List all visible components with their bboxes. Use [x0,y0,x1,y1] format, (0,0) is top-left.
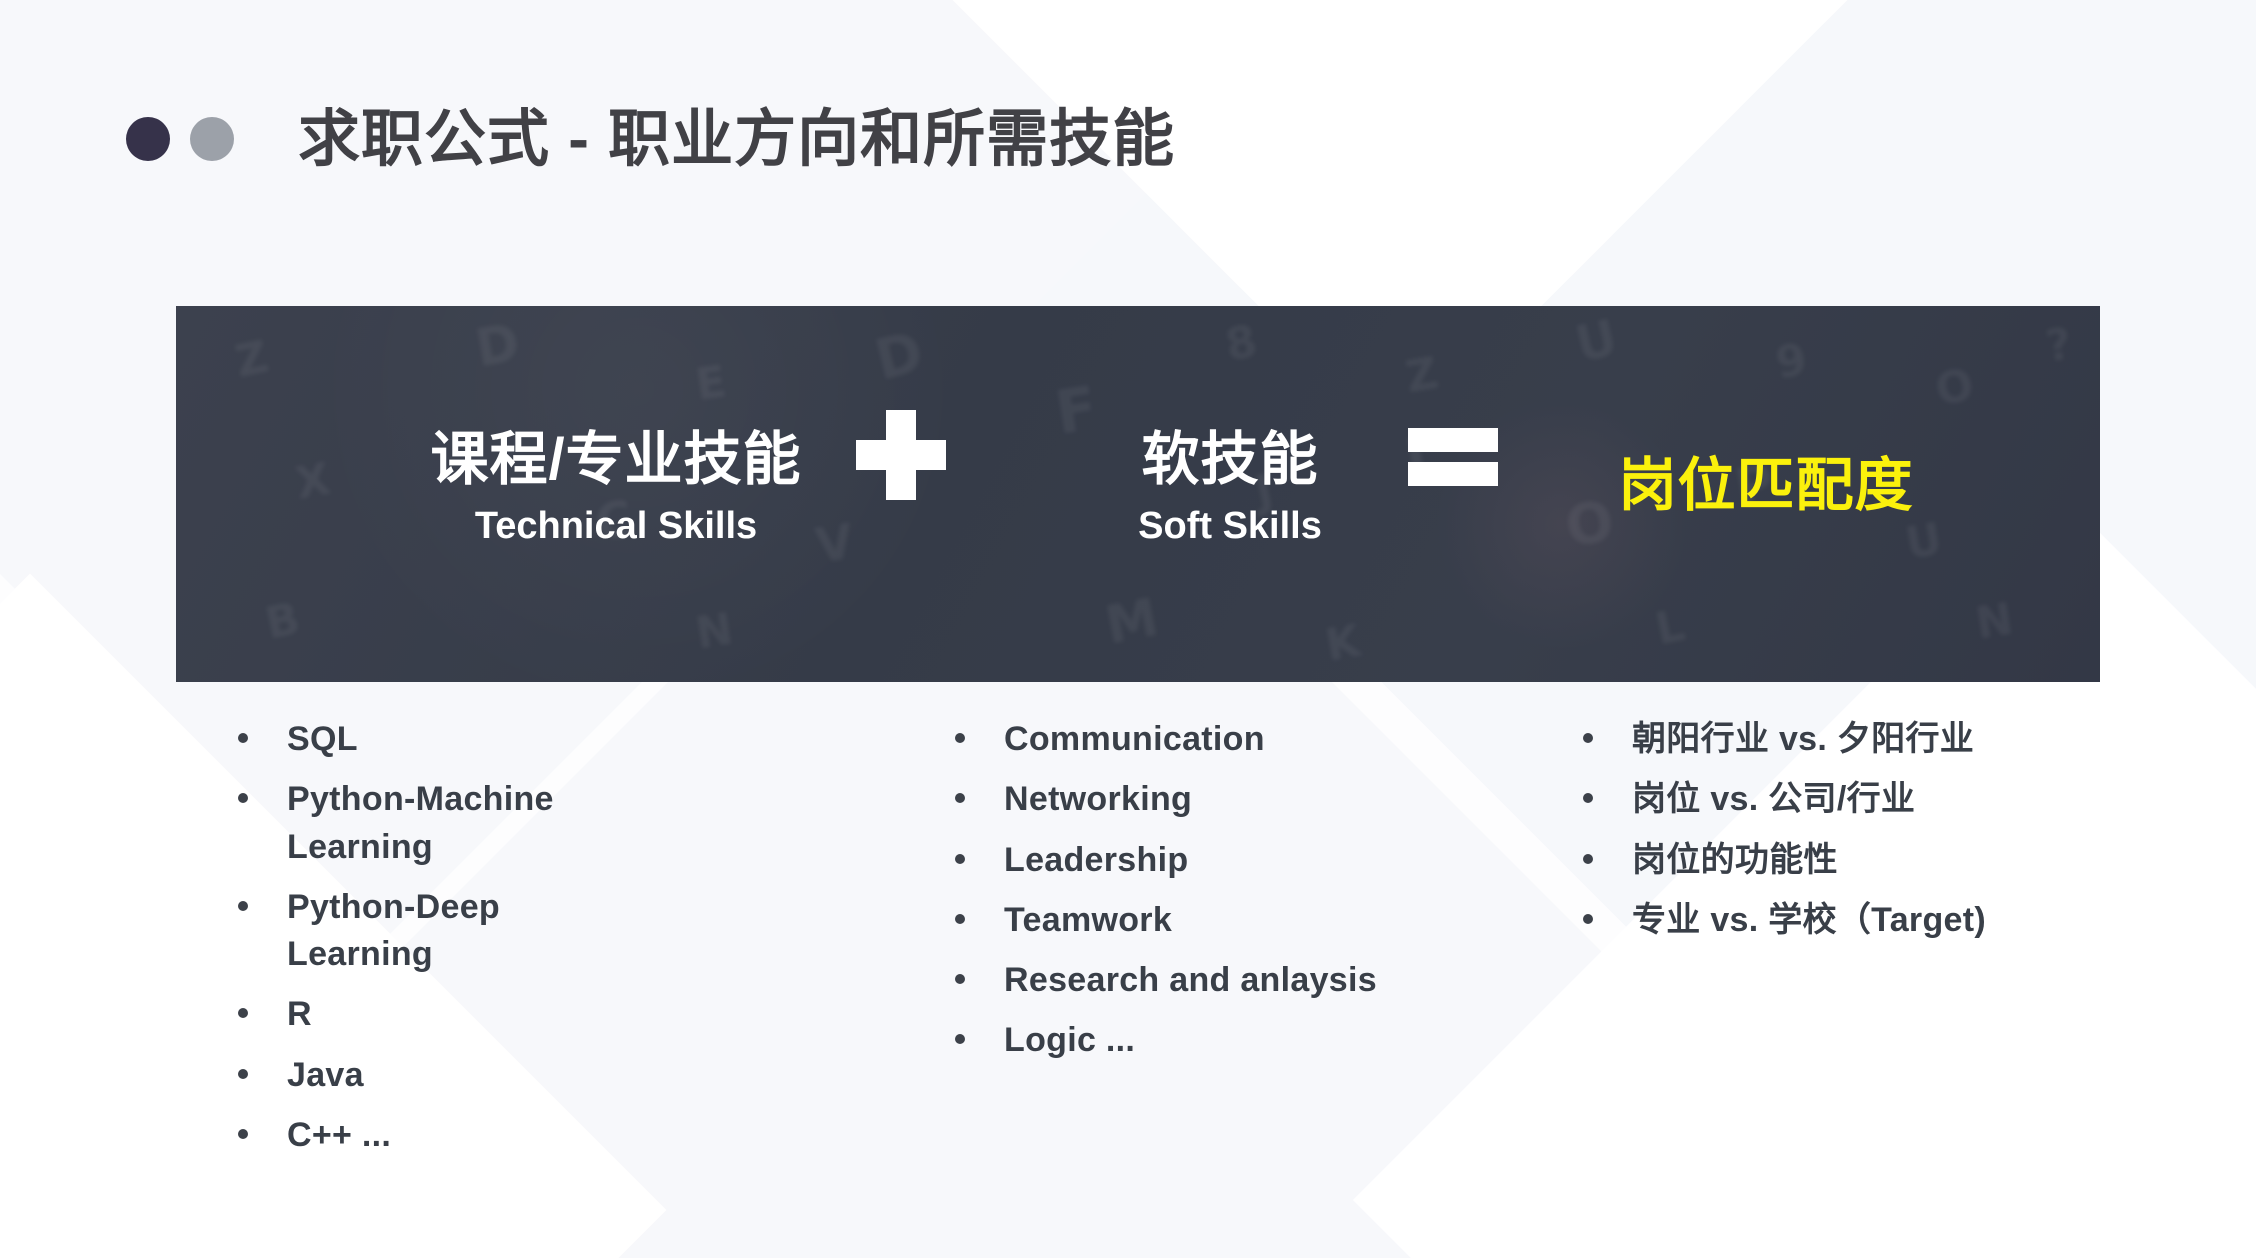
plus-vertical-bar [886,410,916,500]
job-match-column: 朝阳行业 vs. 夕阳行业 岗位 vs. 公司/行业 岗位的功能性 专业 vs.… [1583,716,2143,957]
formula-result: 岗位匹配度 [1506,456,2026,517]
bullet-icon [955,854,965,864]
list-item: 专业 vs. 学校（Target) [1583,897,2143,944]
technical-skills-column: SQL Python-Machine Learning Python-Deep … [238,716,798,1172]
soft-skills-en: Soft Skills [1060,507,1400,545]
list-item: 岗位 vs. 公司/行业 [1583,776,2143,823]
formula-banner: Z D E D F 8 Z U 9 O ? X C V J I O P U B … [176,306,2100,682]
list-item-label: 朝阳行业 vs. 夕阳行业 [1632,716,1974,763]
list-item-label: Java [287,1052,364,1099]
list-item: 岗位的功能性 [1583,837,2143,884]
list-item: 朝阳行业 vs. 夕阳行业 [1583,716,2143,763]
bullet-icon [238,793,248,803]
slide-header: 求职公式 - 职业方向和所需技能 [126,108,1175,170]
list-item-label: 岗位的功能性 [1632,837,1838,884]
list-item: Teamwork [955,897,1555,944]
header-dot-dark-icon [126,117,170,161]
bullet-icon [238,1129,248,1139]
slide-content: 求职公式 - 职业方向和所需技能 Z D E D F 8 Z U 9 O ? X… [0,0,2256,1258]
list-item-label: Logic ... [1004,1017,1135,1064]
list-item: Research and anlaysis [955,957,1555,1004]
bullet-icon [1583,854,1593,864]
bullet-icon [955,974,965,984]
equals-sign-icon [1408,428,1498,486]
formula-soft-skills: 软技能 Soft Skills [1060,430,1400,545]
list-item-label: C++ ... [287,1112,391,1159]
list-item-label: Leadership [1004,837,1188,884]
list-item: Python-Machine Learning [238,776,798,871]
bullet-icon [955,914,965,924]
list-item-label: Networking [1004,776,1192,823]
list-item-label: Communication [1004,716,1265,763]
plus-sign-icon [856,410,946,500]
bullet-icon [1583,733,1593,743]
formula-row: 课程/专业技能 Technical Skills 软技能 Soft Skills… [176,306,2100,682]
soft-skills-column: Communication Networking Leadership Team… [955,716,1555,1078]
list-item: Leadership [955,837,1555,884]
list-item-label: 岗位 vs. 公司/行业 [1632,776,1915,823]
list-item-label: R [287,991,312,1038]
list-item-label: Python-Deep Learning [287,884,617,979]
list-item: Python-Deep Learning [238,884,798,979]
bullet-icon [955,793,965,803]
list-item: C++ ... [238,1112,798,1159]
header-dot-gray-icon [190,117,234,161]
bullet-icon [955,733,965,743]
bullet-icon [238,901,248,911]
technical-skills-cn: 课程/专业技能 [376,430,856,491]
list-item: SQL [238,716,798,763]
list-item-label: Teamwork [1004,897,1172,944]
page-title: 求职公式 - 职业方向和所需技能 [298,109,1175,171]
bullet-icon [1583,914,1593,924]
job-match-cn: 岗位匹配度 [1506,456,2026,517]
list-item-label: 专业 vs. 学校（Target) [1632,897,1986,944]
technical-skills-en: Technical Skills [376,507,856,545]
bullet-icon [1583,793,1593,803]
list-item: Networking [955,776,1555,823]
list-item: Communication [955,716,1555,763]
list-item-label: SQL [287,716,358,763]
equals-top-bar [1408,428,1498,452]
bullet-icon [238,1008,248,1018]
list-item-label: Research and anlaysis [1004,957,1377,1004]
bullet-icon [238,733,248,743]
bullet-icon [955,1034,965,1044]
formula-technical-skills: 课程/专业技能 Technical Skills [376,430,856,545]
list-item: R [238,991,798,1038]
list-item-label: Python-Machine Learning [287,776,617,871]
list-item: Java [238,1052,798,1099]
soft-skills-cn: 软技能 [1060,430,1400,491]
bullet-icon [238,1069,248,1079]
list-item: Logic ... [955,1017,1555,1064]
equals-bottom-bar [1408,462,1498,486]
